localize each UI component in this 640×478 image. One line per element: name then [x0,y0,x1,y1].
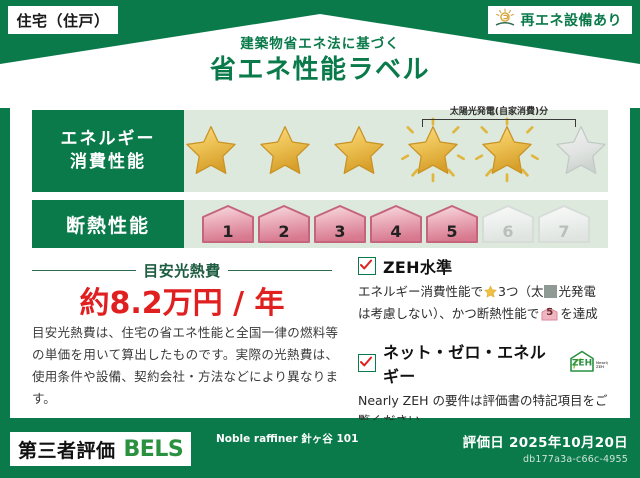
zeh-level-body: エネルギー消費性能で3つ（太光発電は考慮しない）、かつ断熱性能で5を達成 [358,282,608,325]
grade-number: 5 [425,222,479,241]
housing-type-label: 住宅（住戸） [16,10,109,31]
solar-contribution-text: 太陽光発電(自家消費)分 [416,108,582,117]
evaluation-id: db177a3a-c66c-4955 [463,454,628,465]
star-icon-inline [484,284,497,304]
solar-bracket [422,119,576,127]
evaluation-date: 評価日 2025年10月20日 [463,431,628,451]
renewable-energy-label: 再エネ設備あり [521,10,623,30]
grade-active: 2 [257,204,311,244]
insulation-performance-label: 断熱性能 [32,200,184,248]
insulation-performance-value: 1234567 [184,200,608,248]
header-band: 住宅（住戸） 再エネ設備あり [0,0,640,108]
net-zero-block: ネット・ゼロ・エネルギー ZEH Nearly ZEH Nearly ZEH の… [358,339,608,432]
heading-rule-left [32,270,136,271]
energy-performance-row: エネルギー 消費性能 太陽光発電(自家消費)分 [32,110,608,192]
title-subtitle: 建築物省エネ法に基づく [0,38,640,52]
zeh-body-part3: 光発電 [558,284,596,299]
star-empty [547,118,615,184]
insulation-grade-scale: 1234567 [184,200,608,248]
check-icon [358,257,376,275]
zeh-body-part1: エネルギー消費性能で [358,284,483,299]
zeh-body-part5: を達成 [560,306,598,321]
energy-cost-note: 目安光熱費は、住宅の省エネ性能と全国一律の燃料等の単価を用いて算出したものです。… [32,322,338,410]
energy-performance-label-line2: 消費性能 [61,151,156,174]
title-block: 建築物省エネ法に基づく 省エネ性能ラベル [0,38,640,85]
grade-active: 3 [313,204,367,244]
certification-column: ZEH水準 エネルギー消費性能で3つ（太光発電は考慮しない）、かつ断熱性能で5を… [358,254,608,431]
zeh-level-heading: ZEH水準 [358,254,608,278]
zeh-logo-icon: ZEH Nearly ZEH [568,349,608,377]
footer-band: 第三者評価 BELS Noble raffiner 針ヶ谷 101 評価日 20… [0,420,640,478]
svg-text:ZEH: ZEH [596,365,604,369]
grade-active: 4 [369,204,423,244]
net-zero-title: ネット・ゼロ・エネルギー [383,339,557,387]
grade-number: 1 [201,222,255,241]
star-filled [251,118,319,184]
grade-inactive: 6 [481,204,535,244]
insulation-performance-row: 断熱性能 1234567 [32,200,608,248]
insulation-label-text: 断熱性能 [66,211,150,238]
third-party-eval-label: 第三者評価 [18,436,116,463]
renewable-energy-tag: 再エネ設備あり [488,6,633,34]
grade-badge-value: 5 [541,305,558,321]
building-name: Noble raffiner 針ヶ谷 101 [216,432,426,446]
zeh-body-part4: は考慮しない）、かつ断熱性能で [358,306,539,321]
bels-certification-box: 第三者評価 BELS [10,432,191,466]
svg-text:ZEH: ZEH [572,358,592,368]
energy-label-root: 住宅（住戸） 再エネ設備あり [0,0,640,478]
grade-inactive: 7 [537,204,591,244]
grade-number: 2 [257,222,311,241]
grade-active: 1 [201,204,255,244]
energy-cost-value: 約8.2万円 / 年 [32,278,332,322]
redaction-block [544,285,557,298]
net-zero-heading: ネット・ゼロ・エネルギー ZEH Nearly ZEH [358,339,608,387]
grade-badge-inline: 5 [541,307,558,321]
evaluation-info: 評価日 2025年10月20日 db177a3a-c66c-4955 [463,431,628,465]
star-filled [473,118,541,184]
zeh-body-part2: 3つ（太 [498,284,543,299]
grade-active: 5 [425,204,479,244]
check-icon [358,354,376,372]
heading-rule-right [228,270,332,271]
grade-number: 3 [313,222,367,241]
zeh-level-title: ZEH水準 [383,254,452,278]
bels-logo-text: BELS [124,437,184,462]
title-main: 省エネ性能ラベル [0,56,640,86]
energy-performance-value: 太陽光発電(自家消費)分 [184,110,608,192]
grade-number: 7 [537,222,591,241]
star-filled [325,118,393,184]
energy-performance-label-line1: エネルギー [61,128,156,151]
sun-icon [494,8,516,32]
grade-number: 4 [369,222,423,241]
energy-performance-label: エネルギー 消費性能 [32,110,184,192]
star-filled [399,118,467,184]
label-card: エネルギー 消費性能 太陽光発電(自家消費)分 断熱性能 1234567 [10,96,630,418]
housing-type-tag: 住宅（住戸） [8,6,118,34]
star-filled [177,118,245,184]
grade-number: 6 [481,222,535,241]
solar-contribution-note: 太陽光発電(自家消費)分 [416,108,582,127]
